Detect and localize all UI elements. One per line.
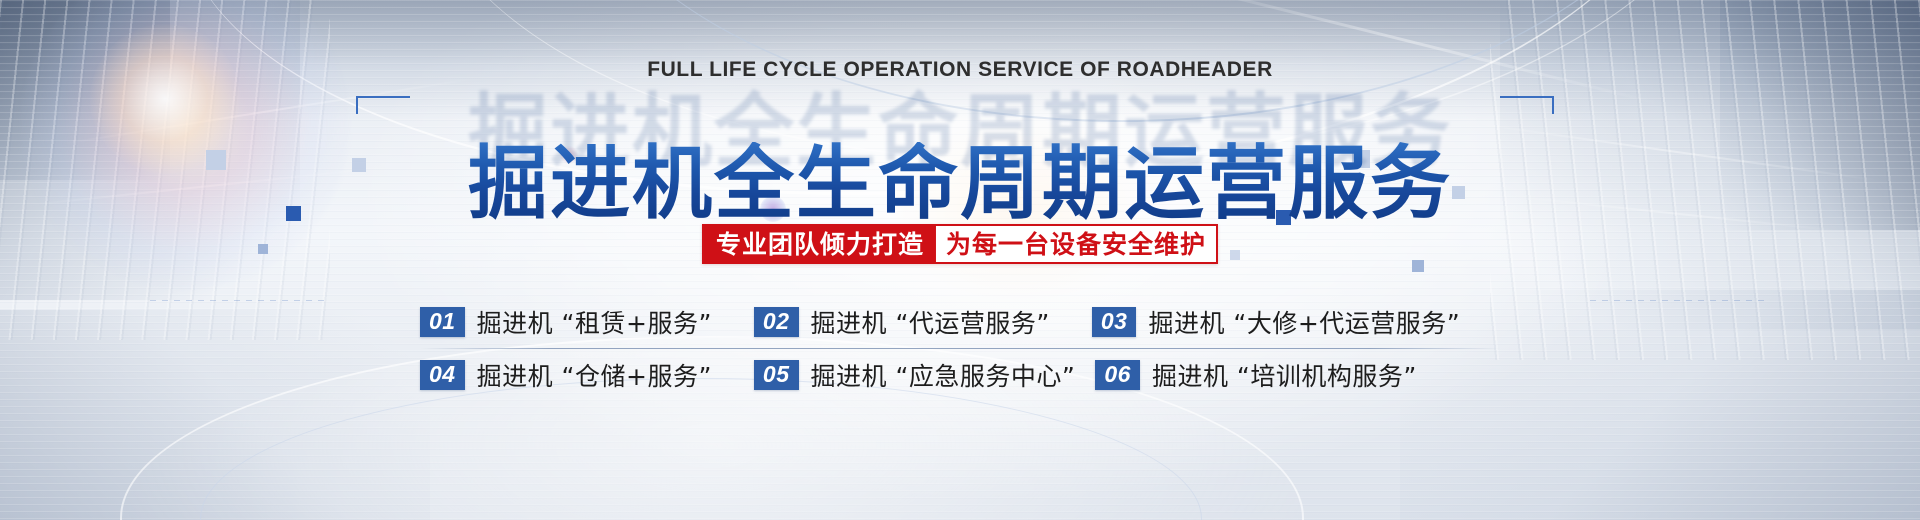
service-number-01: 01 xyxy=(420,307,465,336)
service-item-02[interactable]: 02 掘进机 “代运营服务” xyxy=(754,304,1050,340)
service-item-05[interactable]: 05 掘进机 “应急服务中心” xyxy=(754,357,1075,393)
service-list: 01 掘进机 “租赁+服务” 02 掘进机 “代运营服务” 03 掘进机 “大修… xyxy=(420,296,1500,401)
slogan-left-text: 专业团队倾力打造 xyxy=(704,226,936,262)
service-item-04[interactable]: 04 掘进机 “仓储+服务” xyxy=(420,357,712,393)
service-number-04: 04 xyxy=(420,360,465,389)
banner-content: FULL LIFE CYCLE OPERATION SERVICE OF ROA… xyxy=(0,0,1920,520)
service-item-01[interactable]: 01 掘进机 “租赁+服务” xyxy=(420,304,712,340)
service-label-04: 掘进机 “仓储+服务” xyxy=(477,357,712,393)
english-subtitle: FULL LIFE CYCLE OPERATION SERVICE OF ROA… xyxy=(0,58,1920,82)
service-label-02: 掘进机 “代运营服务” xyxy=(811,304,1050,340)
service-label-05: 掘进机 “应急服务中心” xyxy=(811,357,1076,393)
service-number-06: 06 xyxy=(1095,360,1140,389)
service-row-1: 01 掘进机 “租赁+服务” 02 掘进机 “代运营服务” 03 掘进机 “大修… xyxy=(420,296,1500,348)
service-label-03: 掘进机 “大修+代运营服务” xyxy=(1148,304,1460,340)
service-label-01: 掘进机 “租赁+服务” xyxy=(477,304,712,340)
slogan-right-text: 为每一台设备安全维护 xyxy=(936,226,1216,262)
service-number-02: 02 xyxy=(754,307,799,336)
service-label-06: 掘进机 “培训机构服务” xyxy=(1152,357,1417,393)
page-title: 掘进机全生命周期运营服务 xyxy=(0,142,1920,226)
service-item-03[interactable]: 03 掘进机 “大修+代运营服务” xyxy=(1092,304,1460,340)
service-row-2: 04 掘进机 “仓储+服务” 05 掘进机 “应急服务中心” 06 掘进机 “培… xyxy=(420,349,1500,401)
service-item-06[interactable]: 06 掘进机 “培训机构服务” xyxy=(1095,357,1416,393)
service-number-05: 05 xyxy=(754,360,799,389)
service-number-03: 03 xyxy=(1092,307,1137,336)
slogan-bar: 专业团队倾力打造 为每一台设备安全维护 xyxy=(702,224,1218,264)
promo-banner: FULL LIFE CYCLE OPERATION SERVICE OF ROA… xyxy=(0,0,1920,520)
